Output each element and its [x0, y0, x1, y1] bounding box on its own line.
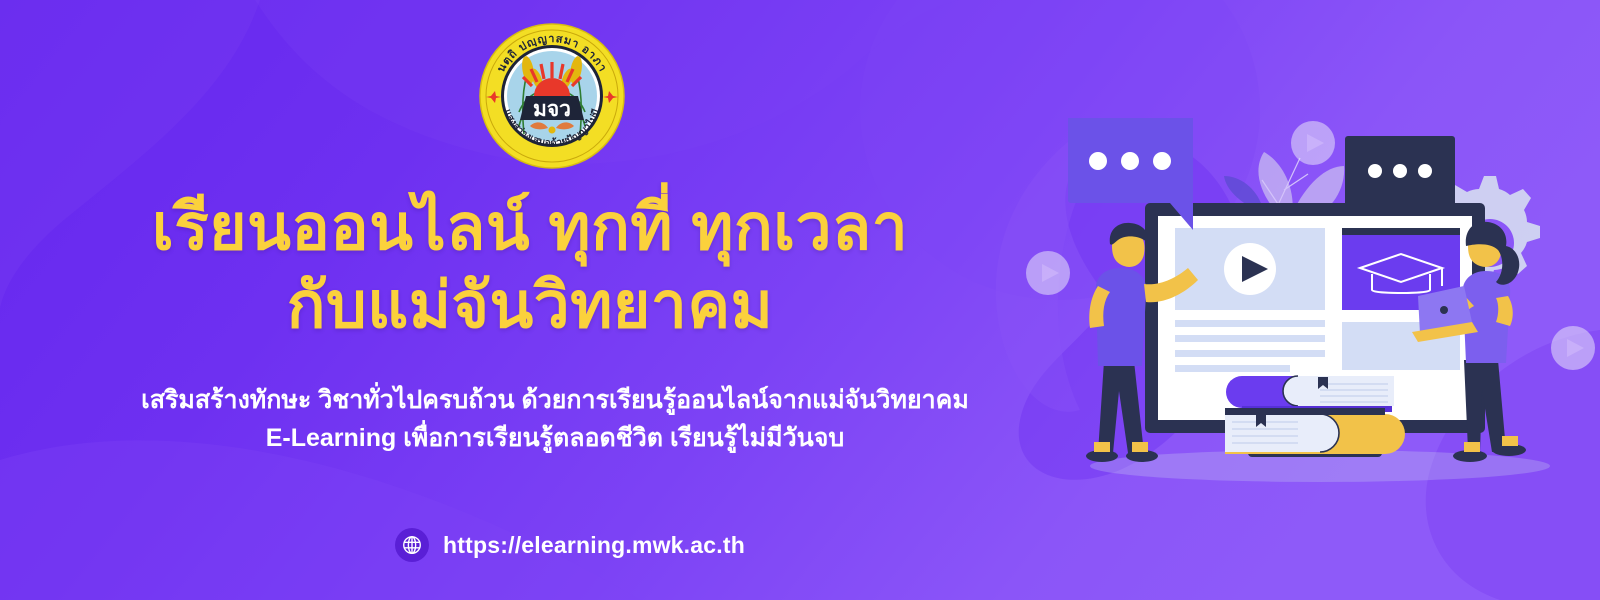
website-url-row[interactable]: https://elearning.mwk.ac.th: [0, 528, 1140, 562]
school-logo: มจว นตฺถิ ปญฺญาสมา อาภา แสงสว่างเสมอด้วย…: [478, 22, 626, 170]
website-url-text[interactable]: https://elearning.mwk.ac.th: [443, 532, 745, 559]
headline: เรียนออนไลน์ ทุกที่ ทุกเวลา กับแม่จันวิท…: [0, 188, 1060, 344]
globe-icon: [395, 528, 429, 562]
stacked-books: [1225, 376, 1405, 454]
play-circle-badge-right: [1551, 326, 1595, 370]
female-arm-back: [1496, 296, 1513, 326]
female-legs: [1464, 360, 1506, 452]
male-shirt: [1096, 268, 1147, 366]
male-legs: [1098, 361, 1144, 453]
play-circle-badge-top: [1291, 121, 1335, 165]
play-circle-badge-left: [1026, 251, 1070, 295]
online-learning-illustration: [1020, 118, 1600, 490]
headline-line-1: เรียนออนไลน์ ทุกที่ ทุกเวลา: [152, 191, 908, 263]
elearning-hero-banner: มจว นตฺถิ ปญฺญาสมา อาภา แสงสว่างเสมอด้วย…: [0, 0, 1600, 600]
logo-center-letters: มจว: [533, 98, 571, 121]
subtitle: เสริมสร้างทักษะ วิชาทั่วไปครบถ้วน ด้วยกา…: [0, 382, 1110, 457]
subtitle-line-1: เสริมสร้างทักษะ วิชาทั่วไปครบถ้วน ด้วยกา…: [141, 386, 969, 414]
headline-line-2: กับแม่จันวิทยาคม: [0, 266, 1060, 344]
subtitle-line-2: E-Learning เพื่อการเรียนรู้ตลอดชีวิต เรี…: [0, 420, 1110, 458]
